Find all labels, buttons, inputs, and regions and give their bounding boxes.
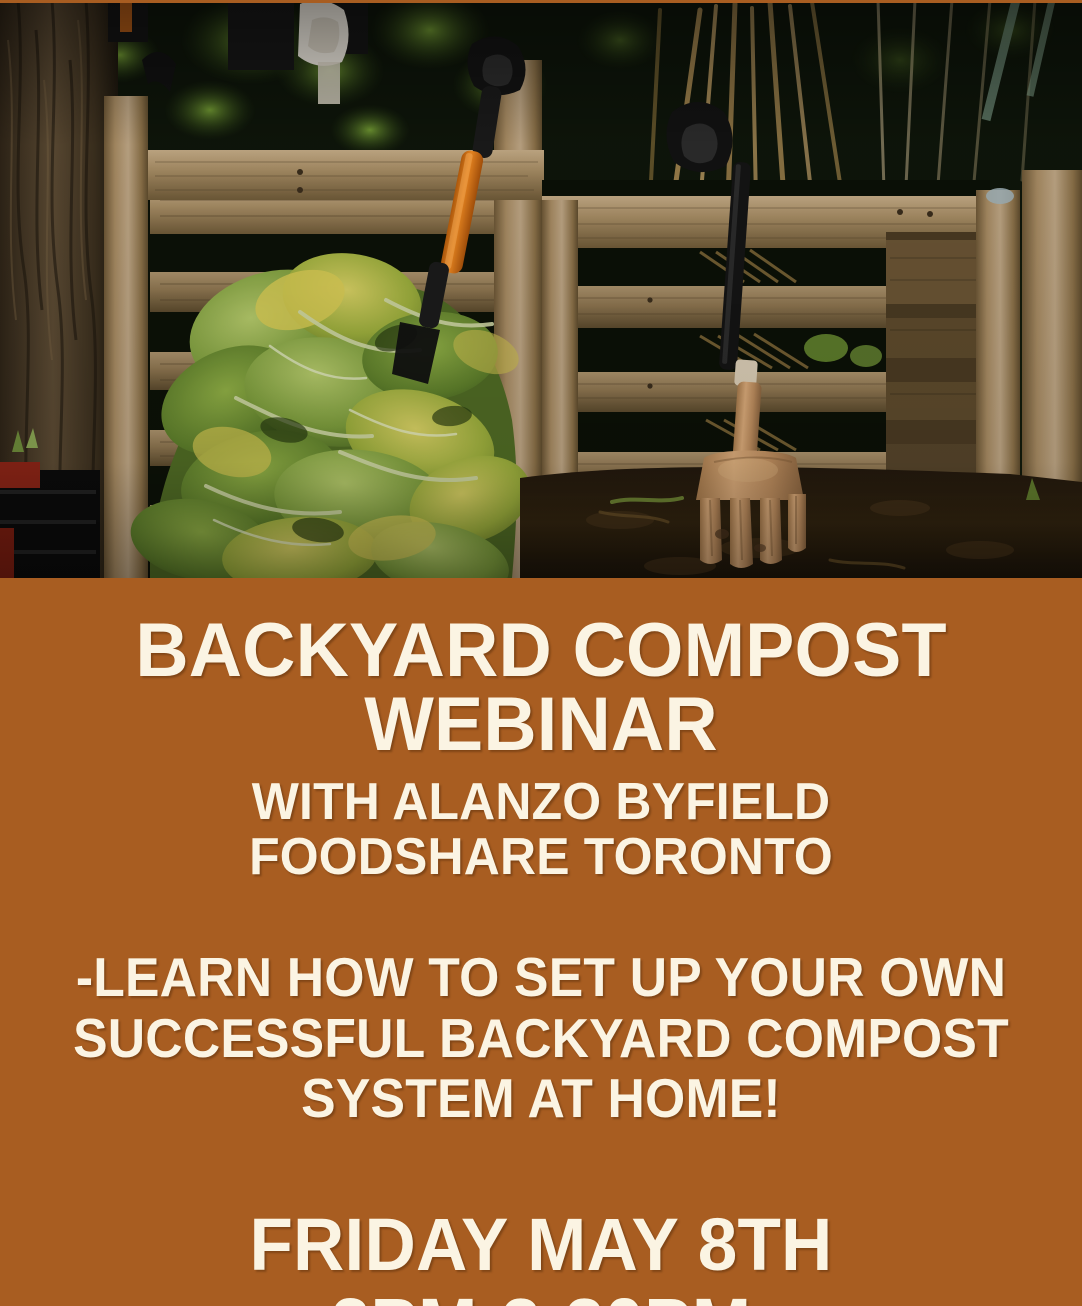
event-description: -LEARN HOW TO SET UP YOUR OWN SUCCESSFUL… [24,947,1058,1129]
event-date: FRIDAY MAY 8TH [45,1205,1038,1285]
presenter-organization: FOODSHARE TORONTO [45,830,1038,885]
presenter-name: WITH ALANZO BYFIELD [45,775,1038,830]
description-line-3: SYSTEM AT HOME! [55,1068,1027,1129]
title-line-2: WEBINAR [40,688,1043,762]
event-datetime: FRIDAY MAY 8TH 2PM-3:30PM [24,1205,1058,1306]
presenter-credit: WITH ALANZO BYFIELD FOODSHARE TORONTO [24,775,1058,885]
compost-bin-illustration [0,0,1082,578]
description-line-1: -LEARN HOW TO SET UP YOUR OWN [55,947,1027,1008]
poster-text-panel: BACKYARD COMPOST WEBINAR WITH ALANZO BYF… [0,578,1082,1306]
compost-bin-photo [0,0,1082,578]
photo-top-strip [0,0,1082,3]
photo-vignette [0,0,1082,578]
poster: BACKYARD COMPOST WEBINAR WITH ALANZO BYF… [0,0,1082,1306]
description-line-2: SUCCESSFUL BACKYARD COMPOST [55,1008,1027,1069]
event-time: 2PM-3:30PM [45,1285,1038,1306]
event-title: BACKYARD COMPOST WEBINAR [24,578,1058,763]
title-line-1: BACKYARD COMPOST [40,614,1043,688]
